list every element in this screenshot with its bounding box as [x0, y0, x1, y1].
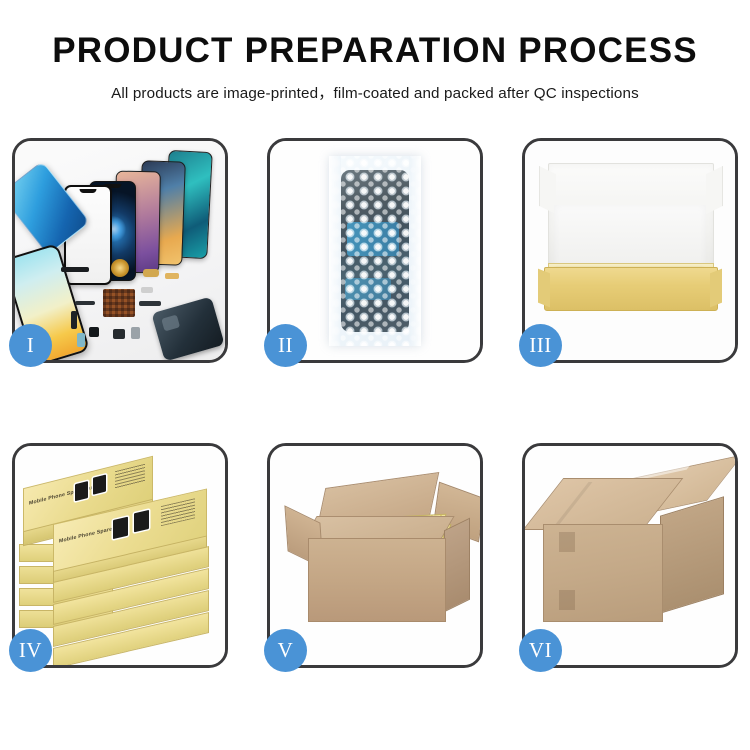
open-shipping-carton-icon: [286, 476, 468, 636]
notch-icon: [80, 189, 97, 193]
camera-module-icon: [89, 327, 99, 337]
step-badge-6: VI: [519, 629, 562, 672]
header: PRODUCT PREPARATION PROCESS All products…: [0, 0, 750, 103]
product-preparation-infographic: PRODUCT PREPARATION PROCESS All products…: [0, 0, 750, 750]
box-stack-front: [53, 564, 211, 660]
flex-cable-icon: [61, 267, 89, 272]
carton-tape-lower: [559, 590, 575, 610]
carton-side-face: [660, 496, 724, 614]
stacked-boxes-group: Mobile Phone Spare Parts Mobile Phone Sp…: [19, 460, 224, 655]
box-tray-right: [710, 269, 722, 308]
step-panel-6: VI: [522, 443, 738, 668]
ribbon-cable-icon: [71, 311, 77, 329]
step-image-4: Mobile Phone Spare Parts Mobile Phone Sp…: [15, 446, 225, 665]
flex-cable-icon: [75, 301, 95, 305]
metal-bracket-icon: [131, 327, 140, 339]
step-panel-5: V: [267, 443, 483, 668]
step-badge-5: V: [264, 629, 307, 672]
bubble-texture-offset: [329, 156, 421, 346]
step-panel-4: Mobile Phone Spare Parts Mobile Phone Sp…: [12, 443, 228, 668]
bubble-wrap-bag-icon: [329, 156, 421, 346]
step-image-2: [270, 141, 480, 360]
step-panel-3: III: [522, 138, 738, 363]
step-badge-3: III: [519, 324, 562, 367]
page-title: PRODUCT PREPARATION PROCESS: [0, 33, 750, 70]
gold-connector-icon: [165, 273, 179, 279]
sealed-shipping-carton-icon: [539, 472, 725, 642]
screw-tray-icon: [103, 289, 135, 317]
step-image-6: [525, 446, 735, 665]
bag-left-seal: [329, 156, 341, 346]
step-panel-1: I: [12, 138, 228, 363]
box-product-thumb-icon: [134, 510, 149, 532]
step-panel-2: II: [267, 138, 483, 363]
small-part-icon: [141, 287, 153, 293]
gold-connector-icon: [143, 269, 159, 277]
sim-tray-icon: [77, 333, 85, 347]
step-badge-4: IV: [9, 629, 52, 672]
steps-grid: I II: [12, 138, 738, 694]
flex-cable-icon: [139, 301, 161, 306]
speaker-module-icon: [113, 329, 125, 339]
step-image-3: [525, 141, 735, 360]
bag-right-seal: [409, 156, 421, 346]
box-product-thumb-icon: [113, 517, 128, 539]
step-badge-1: I: [9, 324, 52, 367]
copper-coil-icon: [111, 259, 129, 277]
step-image-5: [270, 446, 480, 665]
box-product-thumb-icon: [75, 481, 88, 501]
step-badge-2: II: [264, 324, 307, 367]
carton-front-face: [308, 538, 446, 622]
carton-tape-upper: [559, 532, 575, 552]
box-tray-front: [544, 267, 718, 311]
open-mailer-box-icon: [538, 163, 722, 333]
carton-right-face: [444, 518, 470, 613]
step-image-1: [15, 141, 225, 360]
page-subtitle: All products are image-printed，film-coat…: [0, 81, 750, 103]
box-product-thumb-icon: [93, 475, 106, 495]
box-tray-left: [538, 269, 550, 308]
foam-liner: [554, 205, 706, 271]
